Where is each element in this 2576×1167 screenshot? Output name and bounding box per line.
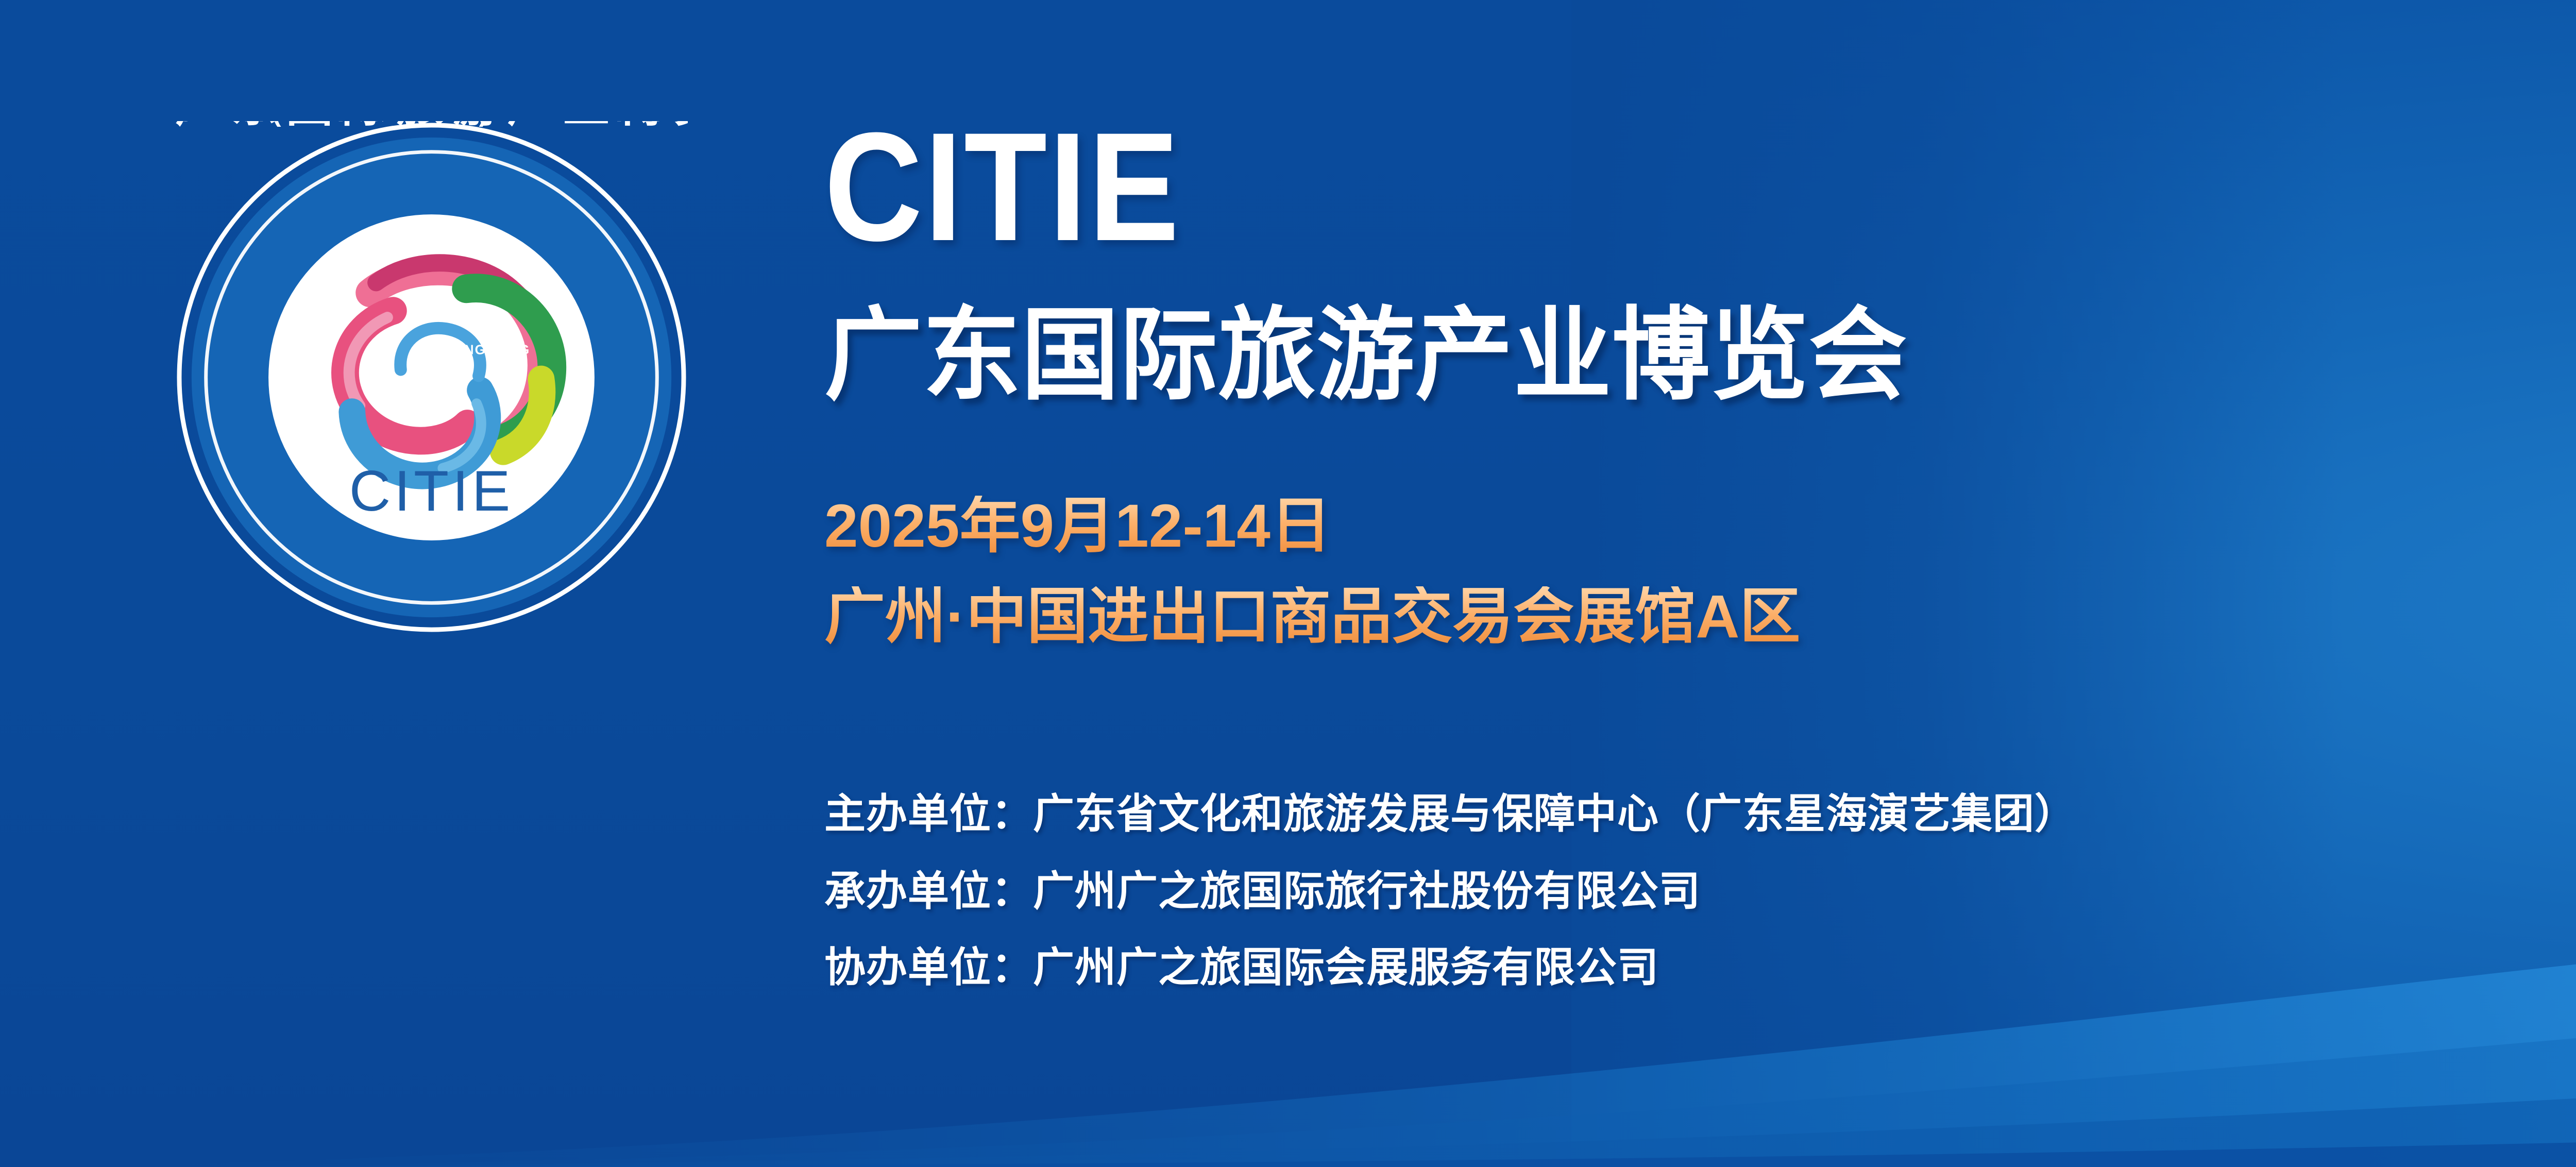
logo-ring-text-en: CHINA (GUANGDONG ) INTERNATIONAL TOURISM… — [175, 121, 688, 127]
organizer-host: 主办单位：广东省文化和旅游发展与保障中心（广东星海演艺集团） — [824, 793, 2076, 835]
headline-block: CITIE 广东国际旅游产业博览会 2025年9月12-14日 广州·中国进出口… — [824, 0, 2576, 1167]
event-date: 2025年9月12-14日 — [824, 496, 1331, 556]
organizer-coorg: 协办单位：广州广之旅国际会展服务有限公司 — [824, 947, 1659, 988]
page-title-cn: 广东国际旅游产业博览会 — [824, 305, 1907, 406]
logo-mark-label: GUANGDONG — [432, 343, 531, 358]
event-venue: 广州·中国进出口商品交易会展馆A区 — [824, 586, 1801, 647]
citie-logo: 广东国际旅游产业博览会 CHINA (GUANGDONG ) INTERNATI… — [175, 121, 688, 634]
citie-expo-banner: 广东国际旅游产业博览会 CHINA (GUANGDONG ) INTERNATI… — [0, 0, 2576, 1167]
logo-acronym: CITIE — [349, 459, 514, 523]
page-title-acronym: CITIE — [824, 109, 1181, 264]
organizer-operator: 承办单位：广州广之旅国际旅行社股份有限公司 — [824, 871, 1701, 912]
